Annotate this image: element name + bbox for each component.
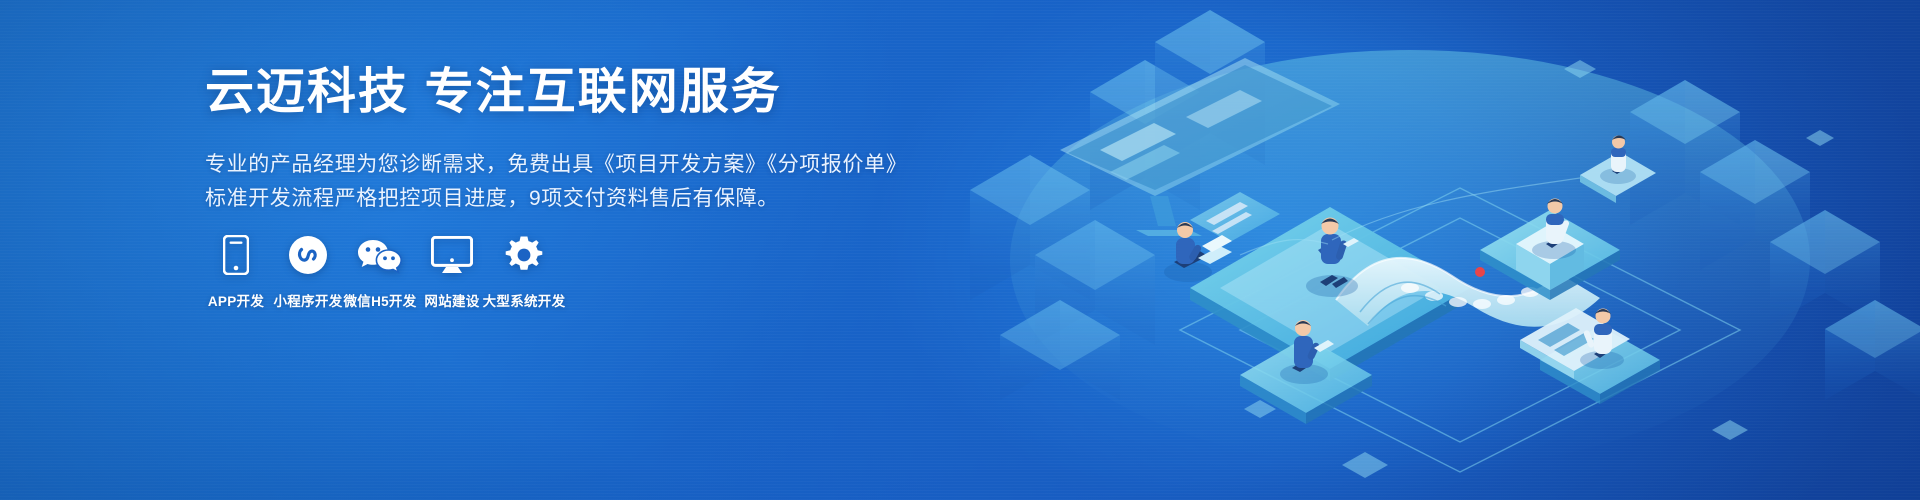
service-label: 小程序开发 bbox=[274, 290, 343, 310]
isometric-illustration bbox=[940, 0, 1920, 500]
gear-icon bbox=[504, 232, 544, 278]
service-label: 微信H5开发 bbox=[343, 290, 416, 310]
service-item-large-system[interactable]: 大型系统开发 bbox=[488, 232, 560, 310]
banner-copy: 云迈科技 专注互联网服务 专业的产品经理为您诊断需求，免费出具《项目开发方案》《… bbox=[205, 64, 905, 216]
banner-headline: 云迈科技 专注互联网服务 bbox=[205, 64, 905, 122]
service-item-app[interactable]: APP开发 bbox=[200, 232, 272, 310]
mobile-phone-icon bbox=[223, 232, 249, 278]
mini-program-icon bbox=[288, 232, 328, 278]
service-label: 大型系统开发 bbox=[483, 290, 566, 310]
banner-subtitle-line-1: 专业的产品经理为您诊断需求，免费出具《项目开发方案》《分项报价单》 bbox=[205, 148, 905, 182]
banner-subtitle: 专业的产品经理为您诊断需求，免费出具《项目开发方案》《分项报价单》 标准开发流程… bbox=[205, 148, 905, 216]
service-item-wechat-h5[interactable]: 微信H5开发 bbox=[344, 232, 416, 310]
monitor-icon bbox=[431, 232, 473, 278]
service-label: 网站建设 bbox=[424, 290, 479, 310]
service-label: APP开发 bbox=[208, 290, 264, 310]
service-list: APP开发 小程序开发 微信 bbox=[200, 232, 560, 310]
wechat-icon bbox=[357, 232, 403, 278]
banner-subtitle-line-2: 标准开发流程严格把控项目进度，9项交付资料售后有保障。 bbox=[205, 182, 905, 216]
service-item-mini-program[interactable]: 小程序开发 bbox=[272, 232, 344, 310]
promo-banner: 云迈科技 专注互联网服务 专业的产品经理为您诊断需求，免费出具《项目开发方案》《… bbox=[0, 0, 1920, 500]
service-item-website[interactable]: 网站建设 bbox=[416, 232, 488, 310]
